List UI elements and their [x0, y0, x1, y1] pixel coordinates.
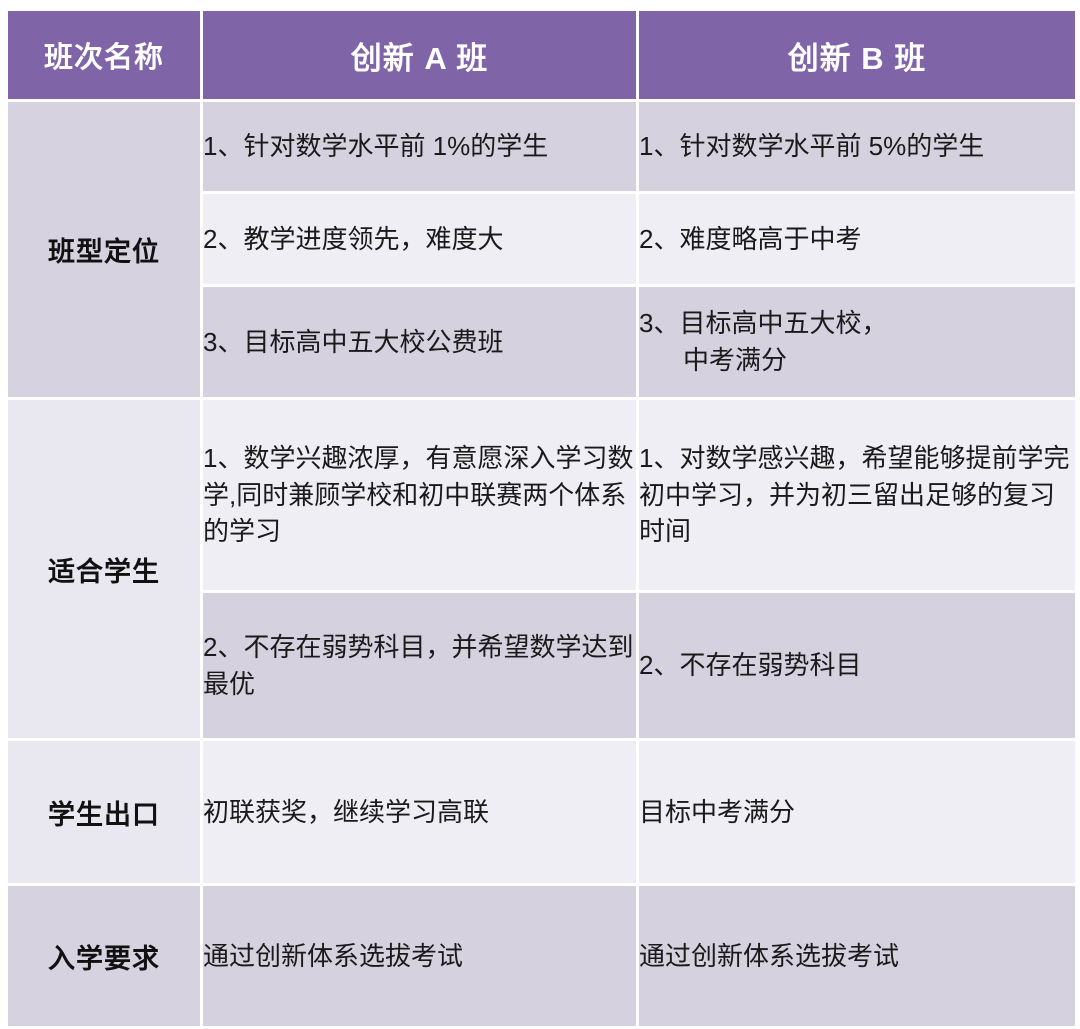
cell-b-positioning-1: 1、针对数学水平前 5%的学生 [639, 102, 1075, 191]
cell-b-suitable-2: 2、不存在弱势科目 [639, 593, 1075, 738]
table-row: 适合学生 1、数学兴趣浓厚，有意愿深入学习数学,同时兼顾学校和初中联赛两个体系的… [8, 400, 1075, 590]
header-column-a: 创新 A 班 [203, 11, 636, 99]
table-row: 入学要求 通过创新体系选拔考试 通过创新体系选拔考试 [8, 886, 1075, 1026]
class-comparison-table: 班次名称 创新 A 班 创新 B 班 班型定位 1、针对数学水平前 1%的学生 … [5, 8, 1078, 1029]
section-label-student-outcome: 学生出口 [8, 741, 200, 883]
section-label-class-positioning: 班型定位 [8, 102, 200, 397]
header-label-column: 班次名称 [8, 11, 200, 99]
cell-a-positioning-2: 2、教学进度领先，难度大 [203, 194, 636, 284]
cell-a-positioning-1: 1、针对数学水平前 1%的学生 [203, 102, 636, 191]
cell-a-positioning-3: 3、目标高中五大校公费班 [203, 287, 636, 397]
cell-b-outcome: 目标中考满分 [639, 741, 1075, 883]
cell-a-suitable-2: 2、不存在弱势科目，并希望数学达到最优 [203, 593, 636, 738]
cell-b-suitable-1: 1、对数学感兴趣，希望能够提前学完初中学习，并为初三留出足够的复习时间 [639, 400, 1075, 590]
table-row: 班型定位 1、针对数学水平前 1%的学生 1、针对数学水平前 5%的学生 [8, 102, 1075, 191]
section-label-suitable-students: 适合学生 [8, 400, 200, 738]
cell-b-positioning-3-line2: 中考满分 [639, 342, 1075, 379]
cell-a-admission: 通过创新体系选拔考试 [203, 886, 636, 1026]
table-row: 学生出口 初联获奖，继续学习高联 目标中考满分 [8, 741, 1075, 883]
table-header-row: 班次名称 创新 A 班 创新 B 班 [8, 11, 1075, 99]
section-label-admission-requirement: 入学要求 [8, 886, 200, 1026]
cell-a-outcome: 初联获奖，继续学习高联 [203, 741, 636, 883]
header-column-b: 创新 B 班 [639, 11, 1075, 99]
cell-a-suitable-1: 1、数学兴趣浓厚，有意愿深入学习数学,同时兼顾学校和初中联赛两个体系的学习 [203, 400, 636, 590]
cell-b-admission: 通过创新体系选拔考试 [639, 886, 1075, 1026]
cell-b-positioning-3: 3、目标高中五大校， 中考满分 [639, 287, 1075, 397]
cell-b-positioning-3-line1: 3、目标高中五大校， [639, 308, 887, 338]
cell-b-positioning-2: 2、难度略高于中考 [639, 194, 1075, 284]
